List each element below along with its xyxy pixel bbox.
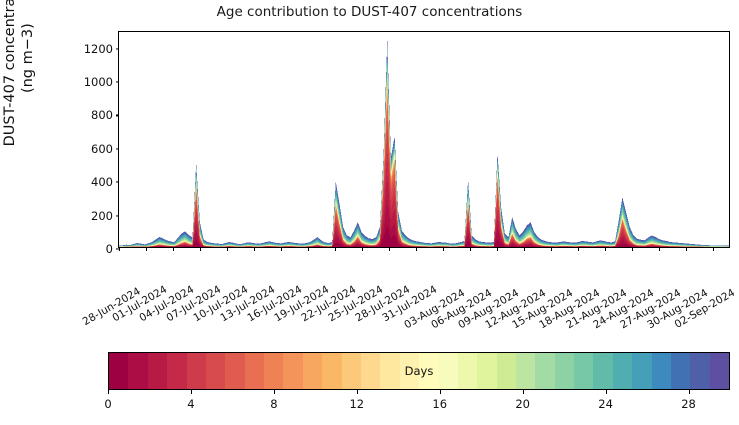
y-tick-label: 0 xyxy=(106,242,113,256)
age-band-area xyxy=(119,84,729,247)
y-tick-label: 800 xyxy=(91,108,113,122)
x-tick-mark xyxy=(659,247,660,251)
y-tick-mark xyxy=(116,48,120,49)
age-band-area xyxy=(119,85,729,247)
age-band-area xyxy=(119,79,729,246)
age-band-area xyxy=(119,64,729,246)
colorbar-tick-label: 28 xyxy=(681,397,696,411)
y-tick-label: 600 xyxy=(91,142,113,156)
colorbar-segment xyxy=(516,353,535,389)
age-band-area xyxy=(119,62,729,247)
colorbar-segment xyxy=(477,353,496,389)
y-axis-label-line1: DUST-407 concentration xyxy=(2,0,18,146)
age-band-area xyxy=(119,73,729,247)
age-band-area xyxy=(119,154,729,247)
colorbar-tick-label: 16 xyxy=(432,397,447,411)
age-band-area xyxy=(119,86,729,246)
age-band-area xyxy=(119,53,729,247)
colorbar-segment xyxy=(497,353,516,389)
colorbar-tick-mark xyxy=(357,390,358,394)
y-tick-label: 200 xyxy=(91,209,113,223)
colorbar-tick-label: 12 xyxy=(349,397,364,411)
colorbar-segment xyxy=(555,353,574,389)
age-band-area xyxy=(119,78,729,247)
age-band-area xyxy=(119,177,729,247)
colorbar-segment xyxy=(109,353,128,389)
x-tick-mark xyxy=(578,247,579,251)
colorbar-segment xyxy=(458,353,477,389)
x-tick-mark xyxy=(713,247,714,251)
x-tick-mark xyxy=(443,247,444,251)
colorbar[interactable] xyxy=(108,352,730,390)
x-tick-mark xyxy=(335,247,336,251)
colorbar-segment xyxy=(167,353,186,389)
x-tick-mark xyxy=(632,247,633,251)
age-band-area xyxy=(119,71,729,246)
colorbar-segment xyxy=(380,353,399,389)
x-tick-mark xyxy=(173,247,174,251)
colorbar-segment xyxy=(574,353,593,389)
colorbar-segment xyxy=(361,353,380,389)
colorbar-tick-mark xyxy=(523,390,524,394)
colorbar-segment xyxy=(535,353,554,389)
colorbar-segment xyxy=(400,353,419,389)
y-axis-label-line2: (ng m−3) xyxy=(20,23,36,93)
y-axis-label: DUST-407 concentration (ng m−3) xyxy=(1,0,37,173)
colorbar-tick-mark xyxy=(191,390,192,394)
x-tick-mark xyxy=(362,247,363,251)
age-band-area xyxy=(119,77,729,247)
colorbar-segment xyxy=(245,353,264,389)
y-tick-label: 1200 xyxy=(84,42,113,56)
chart-title: Age contribution to DUST-407 concentrati… xyxy=(0,4,739,20)
x-tick-mark xyxy=(416,247,417,251)
colorbar-tick-mark xyxy=(689,390,690,394)
x-tick-mark xyxy=(254,247,255,251)
colorbar-tick-label: 20 xyxy=(515,397,530,411)
y-tick-mark xyxy=(116,148,120,149)
chart-figure: Age contribution to DUST-407 concentrati… xyxy=(0,0,739,425)
y-tick-label: 1000 xyxy=(84,75,113,89)
x-tick-mark xyxy=(686,247,687,251)
colorbar-tick-label: 24 xyxy=(598,397,613,411)
age-band-area xyxy=(119,121,729,247)
age-band-area xyxy=(119,56,729,246)
colorbar-segment xyxy=(206,353,225,389)
colorbar-segment xyxy=(128,353,147,389)
y-tick-mark xyxy=(116,115,120,116)
age-band-area xyxy=(119,49,729,246)
colorbar-segment xyxy=(710,353,729,389)
age-band-area xyxy=(119,89,729,247)
colorbar-segment xyxy=(652,353,671,389)
colorbar-tick-mark xyxy=(606,390,607,394)
colorbar-segment xyxy=(283,353,302,389)
age-band-area xyxy=(119,107,729,247)
colorbar-segment xyxy=(593,353,612,389)
age-band-area xyxy=(119,81,729,247)
colorbar-segment xyxy=(148,353,167,389)
colorbar-tick-label: 0 xyxy=(104,397,111,411)
colorbar-segment xyxy=(342,353,361,389)
colorbar-tick-label: 4 xyxy=(187,397,194,411)
colorbar-segment xyxy=(303,353,322,389)
x-tick-mark xyxy=(227,247,228,251)
colorbar-segment xyxy=(671,353,690,389)
age-band-area xyxy=(119,93,729,247)
age-band-area xyxy=(119,75,729,247)
x-tick-mark xyxy=(146,247,147,251)
age-band-area xyxy=(119,67,729,246)
age-band-area xyxy=(119,136,729,247)
y-tick-mark xyxy=(116,82,120,83)
x-tick-mark xyxy=(119,247,120,251)
x-tick-mark xyxy=(497,247,498,251)
x-tick-mark xyxy=(200,247,201,251)
colorbar-tick-mark xyxy=(440,390,441,394)
age-band-area xyxy=(119,99,729,247)
x-tick-mark xyxy=(551,247,552,251)
x-tick-mark xyxy=(605,247,606,251)
y-tick-label: 400 xyxy=(91,175,113,189)
age-band-area xyxy=(119,46,729,246)
age-band-area xyxy=(119,69,729,246)
colorbar-segment xyxy=(264,353,283,389)
age-band-area xyxy=(119,59,729,246)
x-tick-mark xyxy=(524,247,525,251)
y-tick-mark xyxy=(116,215,120,216)
colorbar-segment xyxy=(225,353,244,389)
age-band-area xyxy=(119,44,729,246)
colorbar-segment xyxy=(632,353,651,389)
colorbar-segment xyxy=(187,353,206,389)
stacked-area-series xyxy=(119,32,729,247)
colorbar-tick-mark xyxy=(108,390,109,394)
colorbar-tick-mark xyxy=(274,390,275,394)
x-tick-mark xyxy=(308,247,309,251)
plot-area: 02004006008001000120028-Jun-202401-Jul-2… xyxy=(118,31,730,248)
x-tick-mark xyxy=(389,247,390,251)
age-band-area xyxy=(119,82,729,247)
age-band-area xyxy=(119,41,729,246)
x-tick-mark xyxy=(470,247,471,251)
colorbar-tick-label: 8 xyxy=(270,397,277,411)
colorbar-segment xyxy=(613,353,632,389)
colorbar-segment xyxy=(322,353,341,389)
colorbar-segment xyxy=(690,353,709,389)
colorbar-segment xyxy=(438,353,457,389)
y-tick-mark xyxy=(116,182,120,183)
colorbar-segment xyxy=(419,353,438,389)
x-tick-mark xyxy=(281,247,282,251)
